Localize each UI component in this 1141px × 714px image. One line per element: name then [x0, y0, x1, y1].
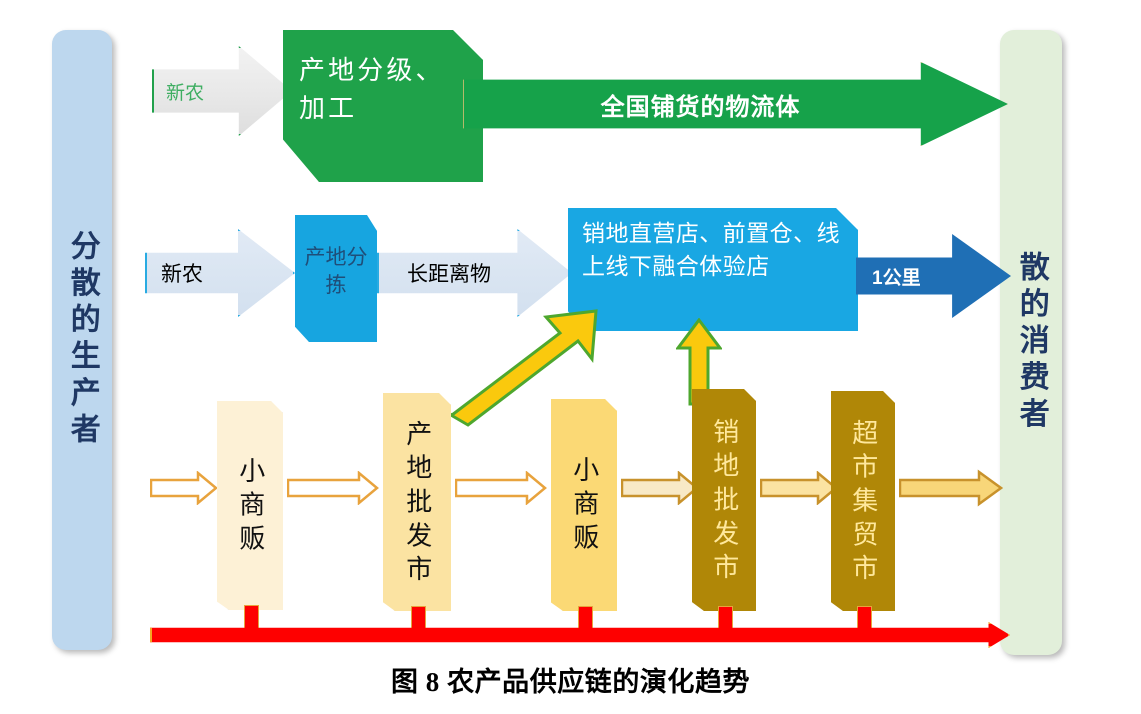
node-chain-4-label: 超市集贸市 — [849, 419, 877, 588]
node-chain-0: 小商贩 — [217, 401, 283, 610]
node-chain-1: 产地批发市 — [383, 393, 451, 611]
arrow-national-logistics: 全国铺货的物流体 — [463, 62, 1008, 146]
chain-arrow-2-icon — [455, 471, 547, 505]
node-chain-4: 超市集贸市 — [831, 391, 895, 611]
node-producer: 分散的生产者 — [52, 30, 112, 650]
arrow-green-entry: 新农 — [152, 46, 292, 136]
arrow-last-kilometer-label: 1公里 — [872, 263, 921, 290]
arrow-last-kilometer: 1公里 — [856, 234, 1011, 318]
arrow-long-haul: 长距离物 — [377, 229, 572, 317]
arrow-blue-entry-label: 新农 — [161, 258, 203, 288]
figure-caption: 图 8 农产品供应链的演化趋势 — [0, 660, 1141, 699]
chain-arrow-0-icon — [150, 471, 218, 505]
node-producer-label: 分散的生产者 — [66, 230, 98, 450]
node-sales-direct-store-label: 销地直营店、前置仓、线上线下融合体验店 — [582, 218, 846, 283]
node-chain-3-label: 销地批发市 — [710, 418, 738, 587]
arrow-green-entry-label: 新农 — [166, 78, 204, 105]
arrow-national-logistics-label: 全国铺货的物流体 — [601, 87, 801, 122]
node-chain-3: 销地批发市 — [692, 389, 756, 611]
node-origin-grading-label: 产地分级、加工 — [299, 52, 469, 127]
node-chain-2-label: 小商贩 — [570, 456, 598, 557]
chain-arrow-4-icon — [760, 471, 838, 505]
node-chain-0-label: 小商贩 — [236, 457, 264, 558]
arrow-blue-entry: 新农 — [145, 229, 295, 317]
node-consumer-label: 散的消费者 — [1015, 251, 1047, 434]
node-chain-2: 小商贩 — [551, 399, 617, 611]
node-chain-1-label: 产地批发市 — [403, 420, 431, 589]
chain-arrow-5-icon — [899, 469, 1003, 507]
node-origin-grading: 产地分级、加工 — [283, 30, 483, 182]
chain-arrow-3-icon — [621, 471, 699, 505]
diagram-canvas: 分散的生产者 散的消费者 新农 产地分级、加工 全国铺货的物流体 新农 产地分拣… — [0, 0, 1141, 714]
node-origin-sorting-label: 产地分拣 — [295, 243, 377, 300]
node-origin-sorting: 产地分拣 — [295, 215, 377, 342]
chain-arrow-1-icon — [287, 471, 379, 505]
arrow-long-haul-label: 长距离物 — [407, 258, 491, 288]
node-consumer: 散的消费者 — [1000, 30, 1062, 655]
